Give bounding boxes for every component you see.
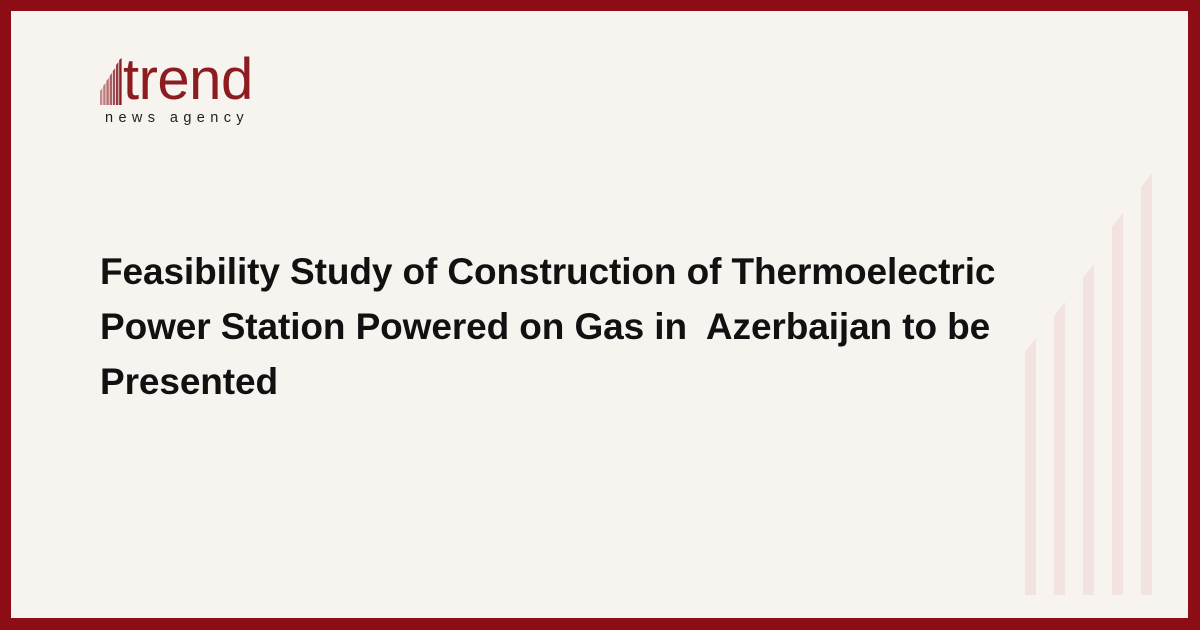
card-canvas: trend news agency Feasibility Study of C… xyxy=(11,11,1188,618)
article-headline: Feasibility Study of Construction of The… xyxy=(100,244,1035,409)
logo-wordmark-row: trend xyxy=(100,49,350,105)
logo-wordmark-text: trend xyxy=(123,55,253,105)
ascending-bars-mark-icon xyxy=(100,58,122,105)
trend-news-agency-logo[interactable]: trend news agency xyxy=(100,49,350,126)
logo-tagline: news agency xyxy=(105,110,350,126)
ascending-bar-graphic xyxy=(1025,165,1165,595)
article-share-card: trend news agency Feasibility Study of C… xyxy=(0,0,1200,630)
